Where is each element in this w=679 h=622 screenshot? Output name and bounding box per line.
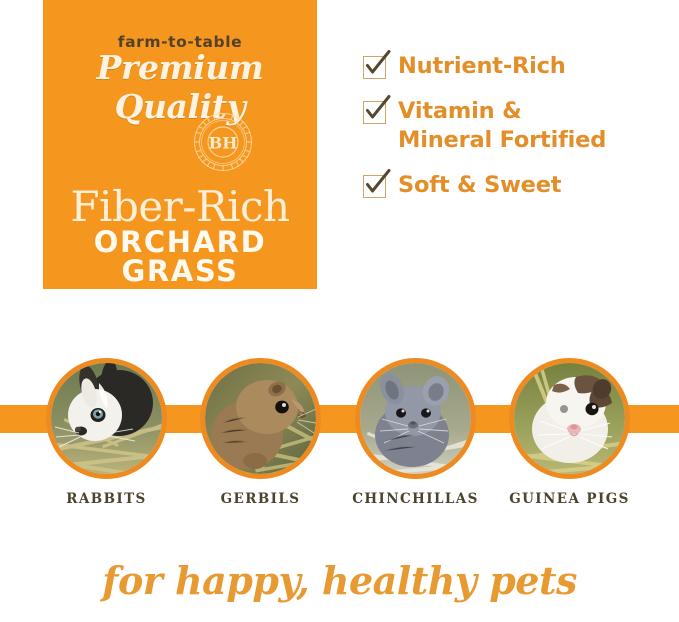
guinea-pig-photo <box>514 363 625 474</box>
tagline-text: for happy, healthy pets <box>0 558 679 603</box>
animal-item-gerbils: GERBILS <box>200 358 321 479</box>
product-infographic: farm-to-table Premium Quality <box>0 0 679 622</box>
benefits-checklist: Nutrient-Rich Vitamin & Mineral Fortifie… <box>363 52 663 216</box>
product-name-secondary: ORCHARD GRASS <box>43 228 317 286</box>
animal-circle-frame <box>46 358 167 479</box>
animal-label: GERBILS <box>182 491 339 507</box>
hero-premium-quality-script: Premium Quality <box>43 48 317 126</box>
checkbox-checked-icon <box>363 175 386 198</box>
benefit-item-nutrient-rich: Nutrient-Rich <box>363 52 663 81</box>
animal-item-rabbits: RABBITS <box>46 358 167 479</box>
chinchilla-photo <box>360 363 471 474</box>
gerbil-photo <box>205 363 316 474</box>
animal-label: RABBITS <box>28 491 185 507</box>
benefit-label: Nutrient-Rich <box>398 52 566 81</box>
animal-circle-frame <box>355 358 476 479</box>
benefit-label-line2: Mineral Fortified <box>398 127 606 153</box>
benefit-label: Soft & Sweet <box>398 171 561 200</box>
checkbox-checked-icon <box>363 101 386 124</box>
benefit-label-line1: Vitamin & <box>398 98 522 124</box>
checkbox-checked-icon <box>363 56 386 79</box>
animal-circle-frame <box>200 358 321 479</box>
animal-label: CHINCHILLAS <box>337 491 494 507</box>
animal-label: GUINEA PIGS <box>491 491 648 507</box>
product-name-primary: Fiber-Rich <box>43 186 317 228</box>
benefit-label-multiline: Vitamin & Mineral Fortified <box>398 97 606 155</box>
animal-item-guinea-pigs: GUINEA PIGS <box>509 358 630 479</box>
seal-monogram-text: BH <box>209 134 238 153</box>
hero-panel: farm-to-table Premium Quality <box>43 0 317 289</box>
benefit-item-vitamin-mineral-fortified: Vitamin & Mineral Fortified <box>363 97 663 155</box>
benefit-item-soft-sweet: Soft & Sweet <box>363 171 663 200</box>
animal-item-chinchillas: CHINCHILLAS <box>355 358 476 479</box>
animal-circle-frame <box>509 358 630 479</box>
bh-seal-logo: BH <box>193 112 253 172</box>
rabbit-photo <box>51 363 162 474</box>
